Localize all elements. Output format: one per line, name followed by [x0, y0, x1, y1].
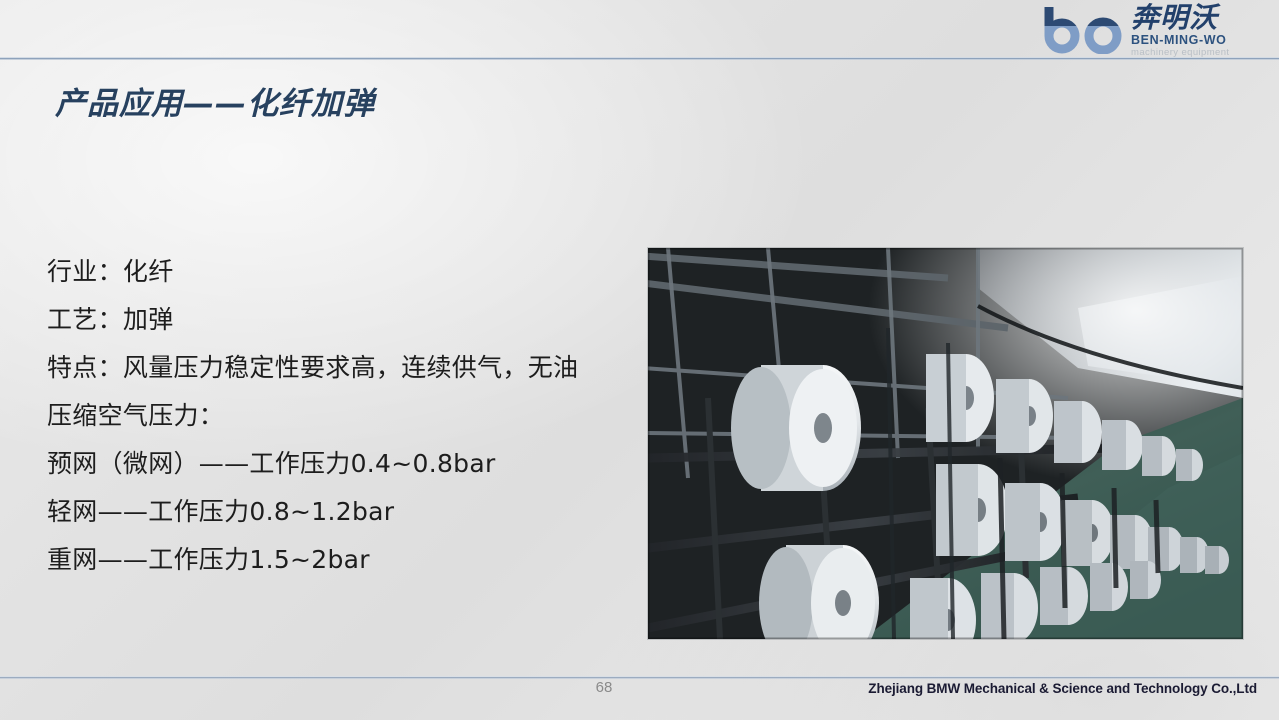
logo-chinese-name: 奔明沃 — [1131, 3, 1229, 33]
logo-wordmark: 奔明沃 BEN-MING-WO machinery equipment — [1131, 2, 1229, 58]
body-line: 压缩空气压力： — [47, 392, 617, 440]
body-line: 预网（微网）——工作压力0.4~0.8bar — [47, 440, 617, 488]
header-divider — [0, 57, 1279, 60]
body-line: 轻网——工作压力0.8~1.2bar — [47, 488, 617, 536]
page-title: 产品应用——化纤加弹 — [55, 78, 375, 123]
page-number: 68 — [584, 679, 624, 696]
yarn-spool — [731, 365, 861, 491]
footer-company-name: Zhejiang BMW Mechanical & Science and Te… — [868, 681, 1257, 696]
body-line: 特点：风量压力稳定性要求高，连续供气，无油 — [47, 344, 617, 392]
logo-english-name: BEN-MING-WO — [1131, 33, 1229, 47]
body-line: 重网——工作压力1.5~2bar — [47, 536, 617, 584]
company-logo: 奔明沃 BEN-MING-WO machinery equipment — [1039, 2, 1271, 58]
body-line: 工艺：加弹 — [47, 296, 617, 344]
yarn-spool — [759, 545, 879, 639]
body-line: 行业：化纤 — [47, 248, 617, 296]
slide-header: 奔明沃 BEN-MING-WO machinery equipment — [0, 0, 1279, 60]
footer-divider — [0, 676, 1279, 679]
factory-yarn-spools-illustration — [648, 248, 1243, 639]
application-photo — [648, 248, 1243, 639]
presentation-slide: 奔明沃 BEN-MING-WO machinery equipment 产品应用… — [0, 0, 1279, 720]
body-text-block: 行业：化纤 工艺：加弹 特点：风量压力稳定性要求高，连续供气，无油 压缩空气压力… — [47, 248, 617, 584]
bo-monogram-logo-icon — [1039, 4, 1135, 54]
